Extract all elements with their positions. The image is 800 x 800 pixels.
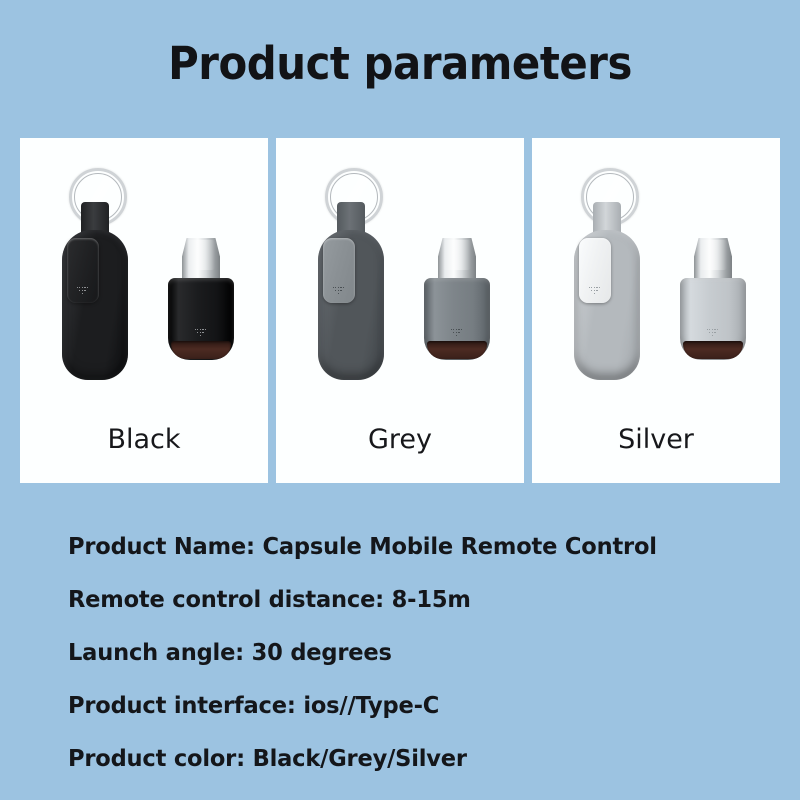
ir-grille-icon <box>706 329 720 338</box>
ir-grille-icon <box>588 287 602 296</box>
product-variant-cards: Black <box>20 138 780 483</box>
product-image-silver <box>532 138 780 418</box>
usb-type-c-dongle <box>424 238 490 360</box>
spec-remote-distance: Remote control distance: 8-15m <box>68 584 740 637</box>
press-button-icon <box>323 238 355 303</box>
infrared-emitter-window-icon <box>171 341 231 359</box>
product-card-silver[interactable]: Silver <box>532 138 780 483</box>
press-button-icon <box>579 238 611 303</box>
spec-product-name: Product Name: Capsule Mobile Remote Cont… <box>68 531 740 584</box>
ir-grille-icon <box>76 287 90 296</box>
product-parameters-page: Product parameters <box>0 0 800 800</box>
specification-list: Product Name: Capsule Mobile Remote Cont… <box>68 531 768 796</box>
usb-type-c-tip-icon <box>438 238 476 282</box>
ir-grille-icon <box>450 329 464 338</box>
infrared-emitter-window-icon <box>683 341 743 359</box>
spec-product-color: Product color: Black/Grey/Silver <box>68 743 740 796</box>
color-label-silver: Silver <box>532 426 780 453</box>
product-image-grey <box>276 138 524 418</box>
connector-shell-icon <box>168 278 234 360</box>
infrared-emitter-window-icon <box>427 341 487 359</box>
usb-type-c-dongle <box>168 238 234 360</box>
spec-launch-angle: Launch angle: 30 degrees <box>68 637 740 690</box>
ir-grille-icon <box>194 329 208 338</box>
connector-shell-icon <box>680 278 746 360</box>
product-image-black <box>20 138 268 418</box>
ir-grille-icon <box>332 287 346 296</box>
usb-type-c-tip-icon <box>182 238 220 282</box>
connector-shell-icon <box>424 278 490 360</box>
usb-type-c-dongle <box>680 238 746 360</box>
keyfob-assembly <box>50 168 140 388</box>
spec-product-interface: Product interface: ios//Type-C <box>68 690 740 743</box>
press-button-icon <box>67 238 99 303</box>
page-title: Product parameters <box>28 41 772 86</box>
product-card-grey[interactable]: Grey <box>276 138 524 483</box>
color-label-black: Black <box>20 426 268 453</box>
keyfob-assembly <box>562 168 652 388</box>
usb-type-c-tip-icon <box>694 238 732 282</box>
keyfob-assembly <box>306 168 396 388</box>
color-label-grey: Grey <box>276 426 524 453</box>
product-card-black[interactable]: Black <box>20 138 268 483</box>
